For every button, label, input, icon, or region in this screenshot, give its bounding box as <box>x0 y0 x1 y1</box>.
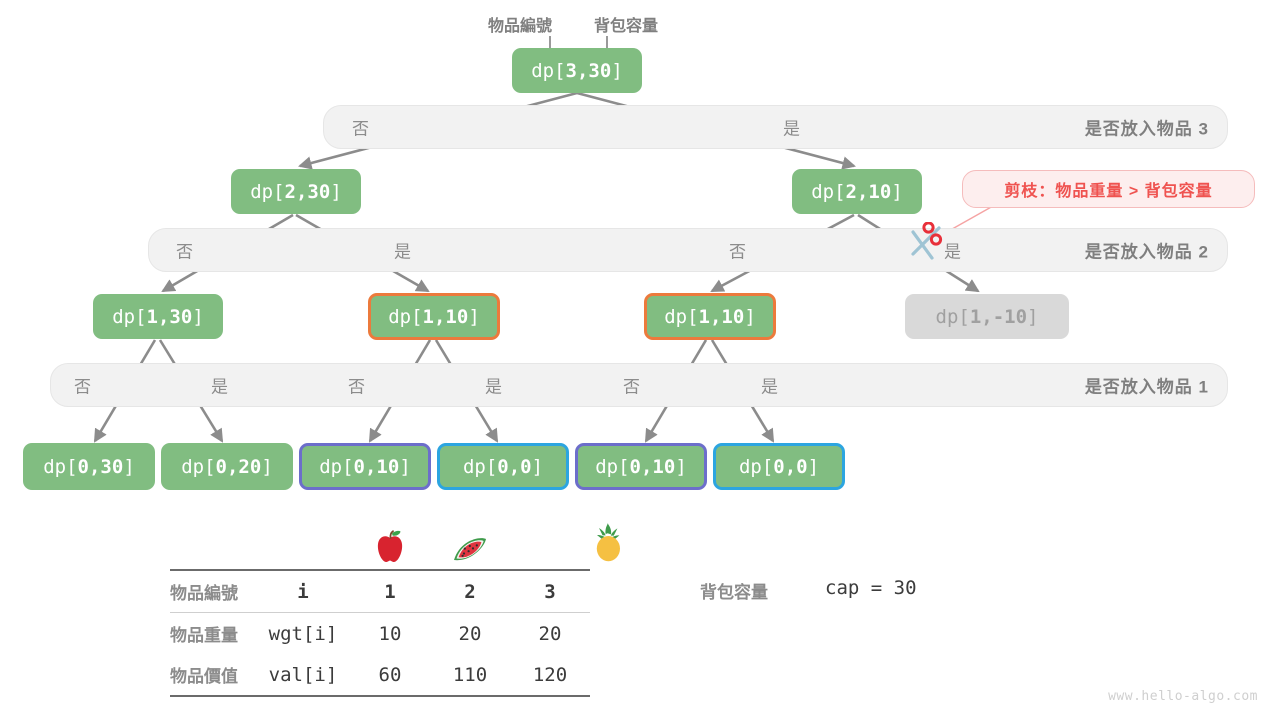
node-label: dp[0,10] <box>319 456 411 478</box>
table-row-value: 物品價值 val[i] 60 110 120 <box>170 654 590 696</box>
cell-item-3: 3 <box>510 570 590 613</box>
band3-choice-yes: 是 <box>783 115 800 140</box>
node-label: dp[2,10] <box>811 181 903 203</box>
cell-wgt: wgt[i] <box>256 613 350 655</box>
table-row-index: 物品編號 i 1 2 3 <box>170 570 590 613</box>
pruning-callout-text: 剪枝：物品重量 > 背包容量 <box>1004 177 1212 201</box>
node-dp-0-30[interactable]: dp[0,30] <box>23 443 155 490</box>
capacity-expression: cap = 30 <box>825 577 917 599</box>
node-label: dp[1,10] <box>664 306 756 328</box>
decision-band-item-3: 否 是 是否放入物品 3 <box>323 105 1228 149</box>
table-icon-row <box>170 515 590 570</box>
node-label: dp[1,-10] <box>936 306 1039 328</box>
node-dp-0-10-b[interactable]: dp[0,10] <box>575 443 707 490</box>
row-label-item-weight: 物品重量 <box>170 613 256 655</box>
node-label: dp[0,0] <box>463 456 543 478</box>
node-dp-1-10-a[interactable]: dp[1,10] <box>368 293 500 340</box>
diagram-canvas: 物品編號 背包容量 否 是 是否放入物品 3 否 是 否 是 是否放入物品 2 … <box>0 0 1280 720</box>
decision-band-item-1: 否 是 否 是 否 是 是否放入物品 1 <box>50 363 1228 407</box>
node-dp-2-30[interactable]: dp[2,30] <box>231 169 361 214</box>
node-label: dp[0,10] <box>595 456 687 478</box>
band3-choice-no: 否 <box>352 115 369 140</box>
cell-weight-2: 20 <box>430 613 510 655</box>
node-dp-0-0-b[interactable]: dp[0,0] <box>713 443 845 490</box>
band2-choice-yes-1: 是 <box>394 238 411 263</box>
band1-choice-yes-3: 是 <box>761 373 778 398</box>
cell-value-2: 110 <box>430 654 510 696</box>
cell-item-2: 2 <box>430 570 510 613</box>
table-row-weight: 物品重量 wgt[i] 10 20 20 <box>170 613 590 655</box>
pineapple-icon <box>590 521 626 563</box>
label-bag-capacity: 背包容量 <box>594 12 658 36</box>
pruning-callout: 剪枝：物品重量 > 背包容量 <box>962 170 1255 208</box>
node-dp-2-10[interactable]: dp[2,10] <box>792 169 922 214</box>
node-label: dp[3,30] <box>531 60 623 82</box>
item-spec-table: 物品編號 i 1 2 3 物品重量 wgt[i] 10 20 20 物品價值 v… <box>170 515 590 697</box>
node-dp-1-30[interactable]: dp[1,30] <box>93 294 223 339</box>
band1-title: 是否放入物品 1 <box>1085 373 1209 398</box>
band1-choice-yes-2: 是 <box>485 373 502 398</box>
cell-weight-3: 20 <box>510 613 590 655</box>
cell-weight-1: 10 <box>350 613 430 655</box>
node-dp-1-minus10-pruned: dp[1,-10] <box>905 294 1069 339</box>
band1-choice-yes-1: 是 <box>211 373 228 398</box>
row-label-item-value: 物品價值 <box>170 654 256 696</box>
label-item-index: 物品編號 <box>488 12 552 36</box>
node-label: dp[1,30] <box>112 306 204 328</box>
watermark: www.hello-algo.com <box>1108 689 1258 704</box>
cell-value-3: 120 <box>510 654 590 696</box>
band1-choice-no-3: 否 <box>623 373 640 398</box>
apple-icon <box>350 515 430 570</box>
node-label: dp[1,10] <box>388 306 480 328</box>
node-dp-0-20[interactable]: dp[0,20] <box>161 443 293 490</box>
scissors-icon <box>905 222 951 268</box>
cell-item-1: 1 <box>350 570 430 613</box>
band2-choice-no-2: 否 <box>729 238 746 263</box>
node-dp-0-10-a[interactable]: dp[0,10] <box>299 443 431 490</box>
band2-choice-no-1: 否 <box>176 238 193 263</box>
decision-band-item-2: 否 是 否 是 是否放入物品 2 <box>148 228 1228 272</box>
band1-choice-no-1: 否 <box>74 373 91 398</box>
node-dp-1-10-b[interactable]: dp[1,10] <box>644 293 776 340</box>
cell-val: val[i] <box>256 654 350 696</box>
node-label: dp[0,20] <box>181 456 273 478</box>
cell-value-1: 60 <box>350 654 430 696</box>
band2-title: 是否放入物品 2 <box>1085 238 1209 263</box>
band1-choice-no-2: 否 <box>348 373 365 398</box>
band3-title: 是否放入物品 3 <box>1085 115 1209 140</box>
node-dp-3-30[interactable]: dp[3,30] <box>512 48 642 93</box>
cell-i: i <box>256 570 350 613</box>
capacity-label: 背包容量 <box>700 578 768 603</box>
node-label: dp[0,0] <box>739 456 819 478</box>
node-label: dp[0,30] <box>43 456 135 478</box>
node-label: dp[2,30] <box>250 181 342 203</box>
node-dp-0-0-a[interactable]: dp[0,0] <box>437 443 569 490</box>
watermelon-icon <box>430 515 510 570</box>
row-label-item-index: 物品編號 <box>170 570 256 613</box>
